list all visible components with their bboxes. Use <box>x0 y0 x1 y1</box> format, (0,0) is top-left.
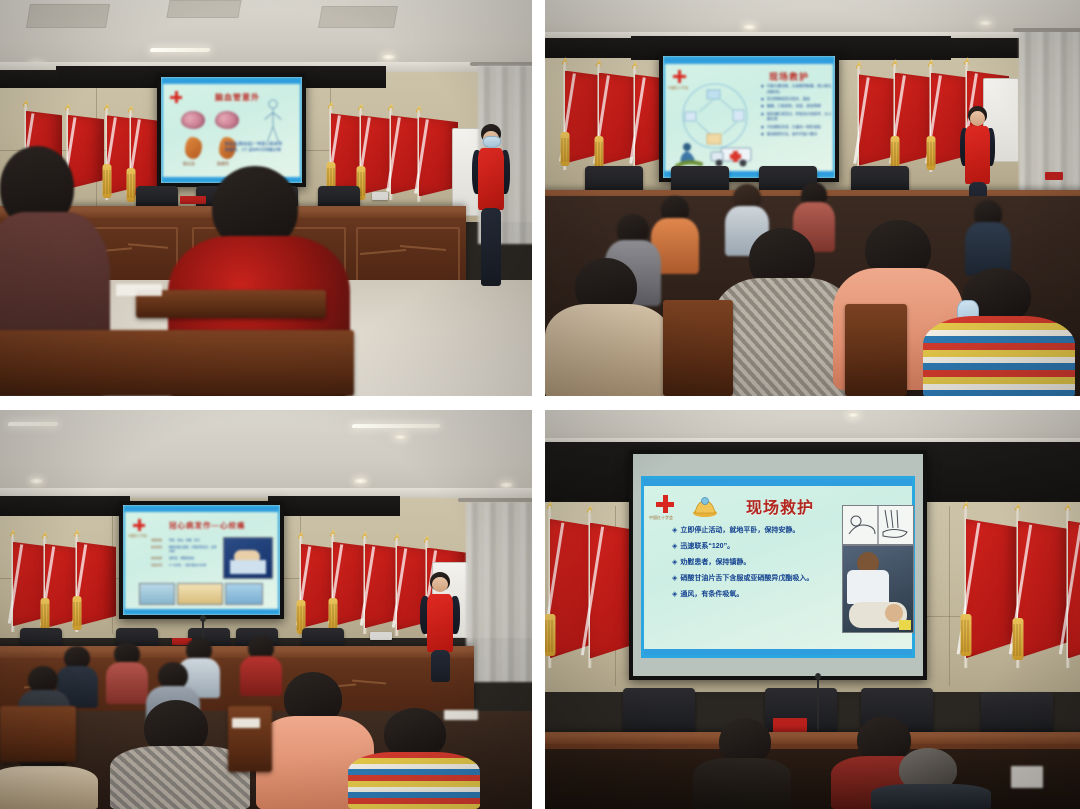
presenter-face <box>970 111 985 126</box>
row-label: 疼痛部位 <box>151 545 169 553</box>
table-row: 疼痛性质 压榨性、闷胀性疼痛 <box>151 556 217 560</box>
bullet-item: ◆意识障碍或意识丧失、昏迷 <box>761 97 833 103</box>
red-flag <box>545 506 567 668</box>
bench <box>663 300 733 396</box>
brain-illustration <box>181 111 205 129</box>
ceiling-downlight <box>354 478 367 484</box>
ceiling-downlight <box>394 434 407 440</box>
ceiling-downlight <box>743 24 756 30</box>
paper-handout <box>444 710 478 720</box>
bullet-marker: ◆ <box>761 112 764 118</box>
audience-body <box>923 316 1075 396</box>
flag-tassel <box>961 614 972 656</box>
red-flag <box>384 538 410 636</box>
bullet-item: ◆可能头晕目眩、头部剧烈胀痛、恶心呕吐(喷射状) <box>761 84 833 96</box>
audience-member <box>693 718 791 809</box>
red-flag <box>64 534 90 632</box>
audience-member <box>965 200 1011 276</box>
flag-tassel <box>561 132 570 166</box>
ceiling <box>0 410 532 498</box>
red-volunteer-vest <box>478 148 504 210</box>
bullet-marker: ◆ <box>761 132 764 138</box>
red-flag <box>621 66 649 172</box>
bullet-marker: ◆ <box>761 97 764 103</box>
slide: 中国红十字会 冠心病发作—心绞痛 诱发因素 劳累、激动、饱餐、寒冷 疼痛部位 胸… <box>123 505 280 615</box>
row-label: 疼痛性质 <box>151 556 169 560</box>
desk-microphone <box>817 678 819 730</box>
row-value: 3～5分钟，一般不超过15分钟 <box>169 563 217 567</box>
paper-handout <box>116 284 162 296</box>
slide-bullets: ◈立即停止活动，就地平卧，保持安静。 ◈迅速联系“120”。 ◈劝慰患者，保持镇… <box>672 525 813 604</box>
bullet-item: ◆速送医院诊治、途中尽量少搬动 <box>761 132 833 138</box>
slide-line-drawing <box>842 505 914 545</box>
ceiling-strip-light <box>351 424 440 428</box>
red-flag <box>378 108 404 200</box>
curtain-rod <box>1013 28 1080 32</box>
screen-valance <box>949 38 1019 58</box>
audience-body <box>693 758 791 809</box>
bench <box>0 706 76 762</box>
paper-handout <box>232 718 260 728</box>
bullet-marker: ◆ <box>761 104 764 110</box>
floor <box>545 749 1080 809</box>
audience-member <box>348 708 480 809</box>
vessel-illustration <box>185 137 202 159</box>
flag-tassel <box>1013 618 1024 660</box>
red-name-card <box>1045 172 1063 180</box>
first-aid-kit-icon <box>692 495 718 517</box>
slide-title: 脑血管意外 <box>215 92 260 103</box>
presenter <box>418 572 462 682</box>
bench <box>0 330 354 396</box>
bullet-item: ◈劝慰患者，保持镇静。 <box>672 557 813 570</box>
slide-illustration <box>223 537 273 579</box>
slide-table: 诱发因素 劳累、激动、饱餐、寒冷 疼痛部位 胸骨后或心前区，可放射至左肩、左臂内… <box>151 538 217 567</box>
panel-top-left: 脑血管意外 脑出血 脑梗死 脑出血(脑溢血)一种是心脏病等 脑梗死、CT 或MR… <box>0 0 532 396</box>
ceiling-panel <box>318 6 398 28</box>
bullet-text: 通风，有条件吸氧。 <box>680 589 743 602</box>
red-flag <box>320 534 346 632</box>
slide-bullets: ◆可能头晕目眩、头部剧烈胀痛、恶心呕吐(喷射状) ◆意识障碍或意识丧失、昏迷 ◆… <box>761 84 833 139</box>
audience-body <box>871 784 991 809</box>
bullet-marker: ◈ <box>672 525 677 538</box>
table-row: 疼痛部位 胸骨后或心前区，可放射至左肩、左臂内侧 <box>151 545 217 553</box>
bullet-item: ◈硝酸甘油片舌下含服或亚硝酸异戊酯吸入。 <box>672 573 813 586</box>
bullet-marker: ◈ <box>672 573 677 586</box>
red-flag <box>585 64 613 172</box>
ceiling-panel <box>26 4 110 28</box>
bench <box>845 304 907 396</box>
projection-screen: 中国红十字会 现场救护 <box>659 52 839 182</box>
panel-bottom-left: 中国红十字会 冠心病发作—心绞痛 诱发因素 劳累、激动、饱餐、寒冷 疼痛部位 胸… <box>0 410 532 809</box>
audience-body <box>0 766 98 809</box>
bullet-marker: ◆ <box>761 125 764 131</box>
slide-title: 冠心病发作—心绞痛 <box>169 520 246 531</box>
red-cross-logo <box>656 495 674 513</box>
audience-body <box>545 304 671 396</box>
bullet-item: ◆偏瘫、口角歪斜、流涎、语言障碍 <box>761 104 833 110</box>
row-value: 压榨性、闷胀性疼痛 <box>169 556 217 560</box>
bullet-item: ◈迅速联系“120”。 <box>672 541 813 554</box>
red-volunteer-vest <box>427 594 453 652</box>
flag-tassel <box>41 598 50 632</box>
screen-valance <box>545 38 633 58</box>
red-flag <box>551 62 579 170</box>
slide-top-bar <box>665 58 833 64</box>
flag-tassel <box>927 136 936 170</box>
slide: 中国红十字会 现场救护 <box>663 56 835 178</box>
red-cross-logo <box>170 91 182 103</box>
bullet-marker: ◈ <box>672 589 677 602</box>
ceiling-strip-light <box>149 48 210 52</box>
ceiling-downlight <box>979 20 992 26</box>
red-flag <box>32 536 58 634</box>
presenter-legs <box>431 650 450 682</box>
ceiling-downlight <box>847 412 860 418</box>
projection-screen: 中国红十字会 冠心病发作—心绞痛 诱发因素 劳累、激动、饱餐、寒冷 疼痛部位 胸… <box>119 501 284 619</box>
conference-chair <box>623 688 695 736</box>
slide-illustration <box>177 583 223 605</box>
flag-tassel <box>545 614 556 656</box>
red-flag <box>573 510 607 668</box>
screen-valance <box>268 496 400 516</box>
bullet-marker: ◈ <box>672 541 677 554</box>
window-curtain <box>466 502 532 682</box>
red-flag <box>0 534 26 632</box>
flag-tassel <box>329 598 338 632</box>
ceiling-strip-light <box>7 422 58 426</box>
slide-top-bar <box>163 79 300 84</box>
slide-top-bar <box>125 507 278 512</box>
laptop <box>370 632 392 640</box>
projection-surface: 中国红十字会 现场救护 ◈立即停止活动，就地平卧，保持安静。 ◈迅速联系“120… <box>633 454 923 676</box>
audience-member <box>923 268 1075 396</box>
flag-tassel <box>73 596 82 630</box>
flag-tassel <box>595 136 604 170</box>
paper-handout <box>1011 766 1043 788</box>
presenter-legs <box>481 208 501 286</box>
table-row: 诱发因素 劳累、激动、饱餐、寒冷 <box>151 538 217 542</box>
red-volunteer-vest <box>965 126 990 184</box>
bullet-item: ◆面色潮红或苍白、呼吸深大有鼾声、大小便失禁 <box>761 112 833 124</box>
bullet-item: ◆平卧解松衣领、头偏向一侧防误吸 <box>761 125 833 131</box>
table-row: 持续时间 3～5分钟，一般不超过15分钟 <box>151 563 217 567</box>
bench <box>136 290 326 318</box>
panel-bottom-right: 中国红十字会 现场救护 ◈立即停止活动，就地平卧，保持安静。 ◈迅速联系“120… <box>545 410 1080 809</box>
presenter <box>468 124 514 296</box>
audience-member <box>871 748 991 809</box>
red-flag <box>1001 508 1035 668</box>
flag-tassel <box>891 136 900 170</box>
slide: 中国红十字会 现场救护 ◈立即停止活动，就地平卧，保持安静。 ◈迅速联系“120… <box>641 476 915 658</box>
screen-valance <box>0 496 130 516</box>
curtain-rod <box>458 498 532 502</box>
brain-illustration <box>215 111 239 129</box>
red-flag <box>288 536 314 634</box>
logo-caption: 中国红十字会 <box>128 533 147 538</box>
logo-caption: 中国红十字会 <box>649 515 673 521</box>
slide-top-bar <box>644 479 912 486</box>
red-flag <box>917 64 945 172</box>
projection-screen: 中国红十字会 现场救护 ◈立即停止活动，就地平卧，保持安静。 ◈迅速联系“120… <box>629 450 927 680</box>
audience-body <box>348 752 480 809</box>
red-flag <box>845 66 873 172</box>
bullet-text: 硝酸甘油片舌下含服或亚硝酸异戊酯吸入。 <box>680 573 813 586</box>
slide-bottom-bar <box>125 609 278 613</box>
red-cross-logo <box>133 519 145 531</box>
bullet-item: ◈立即停止活动，就地平卧，保持安静。 <box>672 525 813 538</box>
slide-illustration <box>225 583 263 605</box>
laptop <box>372 192 388 200</box>
red-flag <box>406 110 432 202</box>
dais-top-edge <box>545 735 1080 744</box>
red-flag <box>352 536 378 634</box>
ceiling-downlight <box>382 54 395 60</box>
red-flag <box>1051 508 1080 668</box>
audience-member <box>106 642 148 704</box>
bullet-text: 迅速联系“120”。 <box>680 541 734 554</box>
photo-collage: 脑血管意外 脑出血 脑梗死 脑出血(脑溢血)一种是心脏病等 脑梗死、CT 或MR… <box>0 0 1080 809</box>
audience-body <box>106 662 148 704</box>
presenter-face <box>432 577 448 592</box>
face-mask <box>483 136 501 148</box>
flag-tassel <box>127 168 136 202</box>
slide-note: 脑出血(脑溢血)一种是心脏病等 脑梗死、CT 或MRI可明确诊断 <box>225 141 282 155</box>
row-label: 诱发因素 <box>151 538 169 542</box>
bullet-text: 劝慰患者，保持镇静。 <box>680 557 750 570</box>
red-flag <box>881 64 909 172</box>
panel-top-right: 中国红十字会 现场救护 <box>545 0 1080 396</box>
projection-surface: 中国红十字会 现场救护 <box>663 56 835 178</box>
screen-valance <box>0 70 58 88</box>
slide-photo-rescue <box>842 545 914 633</box>
bullet-item: ◈通风，有条件吸氧。 <box>672 589 813 602</box>
projection-surface: 中国红十字会 冠心病发作—心绞痛 诱发因素 劳累、激动、饱餐、寒冷 疼痛部位 胸… <box>123 505 280 615</box>
bench <box>228 706 272 772</box>
row-label: 持续时间 <box>151 563 169 567</box>
bullet-marker: ◆ <box>761 84 764 90</box>
row-value: 胸骨后或心前区，可放射至左肩、左臂内侧 <box>169 545 217 553</box>
bullet-text: 立即停止活动，就地平卧，保持安静。 <box>680 525 799 538</box>
audience-member <box>545 258 671 396</box>
row-value: 劳累、激动、饱餐、寒冷 <box>169 538 217 542</box>
slide-illustration <box>139 583 175 605</box>
slide-bottom-bar <box>644 649 912 655</box>
slide-title: 现场救护 <box>769 70 809 83</box>
bullet-marker: ◈ <box>672 557 677 570</box>
slide-title: 现场救护 <box>746 494 814 518</box>
ceiling-panel <box>166 0 241 18</box>
slide-note-line: 脑出血(脑溢血)一种是心脏病等 脑梗死、CT 或MRI可明确诊断 <box>225 141 282 154</box>
ceiling-downlight <box>30 478 43 484</box>
red-flag <box>949 506 983 668</box>
